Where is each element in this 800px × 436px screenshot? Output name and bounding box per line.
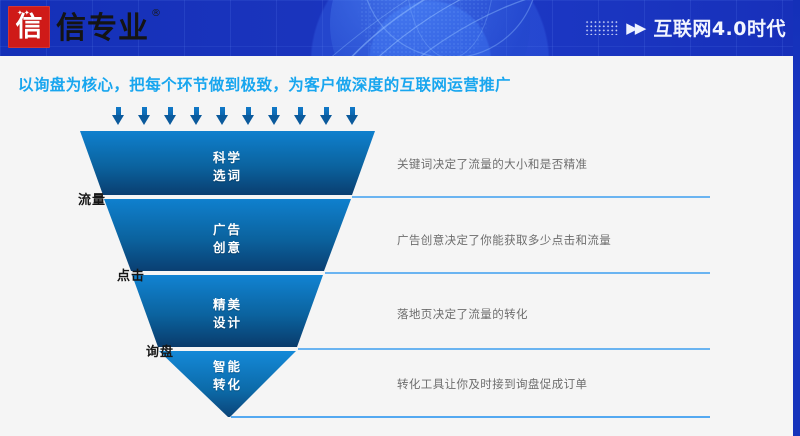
funnel-segment-2-label: 广告 创意 xyxy=(180,221,275,257)
segment-2-line2: 创意 xyxy=(180,239,275,257)
segment-1-line2: 选词 xyxy=(180,167,275,185)
brand-logo[interactable]: ✦✦ 信 信专业 ® xyxy=(8,6,149,48)
content-panel: 以询盘为核心，把每个环节做到极致，为客户做深度的互联网运营推广 xyxy=(0,56,793,436)
stage-label-inquiry: 询盘 xyxy=(146,341,174,360)
slide-root: ✦✦ 信 信专业 ® ▶▶ 互联网4.0时代 以询盘为核心，把每个环节做到极致，… xyxy=(0,0,800,436)
down-arrow-icon xyxy=(190,107,203,125)
segment-4-line1: 智能 xyxy=(180,358,275,376)
down-arrow-icon xyxy=(164,107,177,125)
funnel-description-3: 落地页决定了流量的转化 xyxy=(397,306,528,322)
funnel-description-2: 广告创意决定了你能获取多少点击和流量 xyxy=(397,232,611,248)
page-header: ✦✦ 信 信专业 ® ▶▶ 互联网4.0时代 xyxy=(0,0,800,56)
double-arrow-icon: ▶▶ xyxy=(626,19,643,37)
down-arrow-icon xyxy=(242,107,255,125)
funnel-segment-1-label: 科学 选词 xyxy=(180,149,275,185)
down-arrow-icon xyxy=(268,107,281,125)
stage-label-click: 点击 xyxy=(117,265,145,284)
segment-3-line1: 精美 xyxy=(180,296,275,314)
funnel-description-1: 关键词决定了流量的大小和是否精准 xyxy=(397,156,587,172)
dot-grid-decoration-icon xyxy=(585,20,619,35)
segment-2-line1: 广告 xyxy=(180,221,275,239)
page-title: 以询盘为核心，把每个环节做到极致，为客户做深度的互联网运营推广 xyxy=(18,73,511,95)
down-arrow-icon xyxy=(138,107,151,125)
xin-logo-mark-icon: ✦✦ 信 xyxy=(8,6,50,48)
slogan-text: 互联网4.0时代 xyxy=(653,14,786,41)
down-arrow-icon xyxy=(294,107,307,125)
segment-3-line2: 设计 xyxy=(180,314,275,332)
funnel-segment-4-label: 智能 转化 xyxy=(180,358,275,394)
segment-4-line2: 转化 xyxy=(180,376,275,394)
header-slogan: ▶▶ 互联网4.0时代 xyxy=(585,14,786,41)
funnel-description-4: 转化工具让你及时接到询盘促成订单 xyxy=(397,376,587,392)
brand-name: 信专业 ® xyxy=(56,11,149,44)
stage-label-traffic: 流量 xyxy=(78,189,106,208)
right-edge-accent-bar xyxy=(793,0,800,436)
down-arrow-icon xyxy=(320,107,333,125)
flow-arrows-row xyxy=(112,107,359,125)
down-arrow-icon xyxy=(216,107,229,125)
segment-1-line1: 科学 xyxy=(180,149,275,167)
brand-name-text: 信专业 xyxy=(56,11,149,46)
logo-glyph: 信 xyxy=(8,6,50,48)
registered-mark-icon: ® xyxy=(151,9,162,19)
globe-arc-lines xyxy=(300,0,560,56)
funnel-segment-3-label: 精美 设计 xyxy=(180,296,275,332)
down-arrow-icon xyxy=(346,107,359,125)
down-arrow-icon xyxy=(112,107,125,125)
